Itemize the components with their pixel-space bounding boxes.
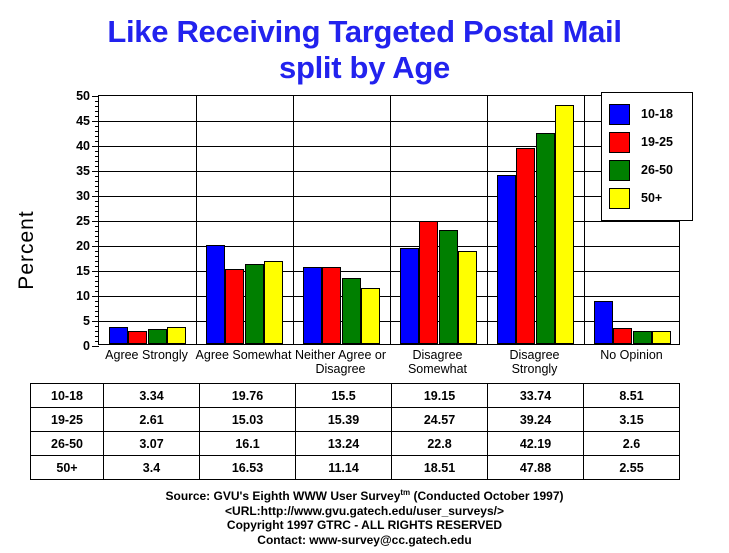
table-cell: 2.61 [104, 408, 200, 432]
category-separator-line [584, 96, 585, 344]
x-axis-label-line: Somewhat [389, 362, 486, 376]
x-axis-label-line: Agree Somewhat [195, 348, 292, 362]
bar-19-25-0[interactable] [128, 331, 147, 344]
bar-26-50-2[interactable] [342, 278, 361, 344]
y-axis-tick [92, 196, 99, 197]
y-axis-tick-label: 10 [76, 289, 90, 303]
bar-19-25-4[interactable] [516, 148, 535, 344]
y-axis-tick-label: 40 [76, 139, 90, 153]
y-axis-minor-tick [95, 331, 99, 332]
bar-10-18-4[interactable] [497, 175, 516, 344]
y-axis-tick-label: 20 [76, 239, 90, 253]
y-axis-tick-label: 0 [83, 339, 90, 353]
table-cell: 19.76 [200, 384, 296, 408]
y-axis-minor-tick [95, 156, 99, 157]
gridline-horizontal [99, 196, 679, 197]
y-axis-minor-tick [95, 176, 99, 177]
table-cell: 13.24 [296, 432, 392, 456]
footer-source-post: (Conducted October 1997) [410, 489, 563, 503]
table-cell: 8.51 [584, 384, 680, 408]
x-axis-label-line: Strongly [486, 362, 583, 376]
gridline-horizontal [99, 171, 679, 172]
table-row: 50+3.416.5311.1418.5147.882.55 [31, 456, 680, 480]
y-axis-tick [92, 321, 99, 322]
y-axis-tick [92, 146, 99, 147]
y-axis-minor-tick [95, 181, 99, 182]
table-cell: 2.55 [584, 456, 680, 480]
table-cell: 3.34 [104, 384, 200, 408]
bar-26-50-1[interactable] [245, 264, 264, 345]
bar-19-25-2[interactable] [322, 267, 341, 344]
y-axis-minor-tick [95, 211, 99, 212]
table-cell: 15.03 [200, 408, 296, 432]
legend-item-19-25[interactable]: 19-25 [609, 128, 686, 156]
category-separator-line [390, 96, 391, 344]
gridline-horizontal [99, 296, 679, 297]
y-axis-tick [92, 171, 99, 172]
y-axis-minor-tick [95, 236, 99, 237]
y-axis-minor-tick [95, 261, 99, 262]
y-axis-minor-tick [95, 161, 99, 162]
y-axis-minor-tick [95, 216, 99, 217]
table-cell: 39.24 [488, 408, 584, 432]
table-cell: 33.74 [488, 384, 584, 408]
footer-source-trademark: tm [400, 488, 410, 497]
table-row: 26-503.0716.113.2422.842.192.6 [31, 432, 680, 456]
table-row-header: 10-18 [31, 384, 104, 408]
plot-area: 05101520253035404550 [98, 95, 680, 345]
y-axis-tick [92, 271, 99, 272]
table-cell: 18.51 [392, 456, 488, 480]
legend-item-10-18[interactable]: 10-18 [609, 100, 686, 128]
table-cell: 3.4 [104, 456, 200, 480]
table-cell: 2.6 [584, 432, 680, 456]
gridline-horizontal [99, 271, 679, 272]
y-axis-minor-tick [95, 306, 99, 307]
table-cell: 15.39 [296, 408, 392, 432]
bar-50plus-4[interactable] [555, 105, 574, 344]
footer-copyright: Copyright 1997 GTRC - ALL RIGHTS RESERVE… [0, 518, 729, 533]
table-cell: 11.14 [296, 456, 392, 480]
data-table-body: 10-183.3419.7615.519.1533.748.5119-252.6… [31, 384, 680, 480]
y-axis-tick [92, 346, 99, 347]
y-axis-tick-label: 50 [76, 89, 90, 103]
bar-26-50-3[interactable] [439, 230, 458, 344]
page-title: Like Receiving Targeted Postal Mail spli… [0, 14, 729, 86]
gridline-horizontal [99, 321, 679, 322]
bar-19-25-3[interactable] [419, 221, 438, 344]
bar-50plus-2[interactable] [361, 288, 380, 344]
y-axis-minor-tick [95, 126, 99, 127]
x-axis-label-line: Disagree [389, 348, 486, 362]
x-axis-label-0: Agree Strongly [98, 348, 195, 362]
table-cell: 24.57 [392, 408, 488, 432]
x-axis-label-1: Agree Somewhat [195, 348, 292, 362]
y-axis-minor-tick [95, 136, 99, 137]
y-axis-minor-tick [95, 336, 99, 337]
y-axis-minor-tick [95, 106, 99, 107]
x-axis-label-5: No Opinion [583, 348, 680, 362]
y-axis-minor-tick [95, 231, 99, 232]
gridline-horizontal [99, 146, 679, 147]
footer-source-pre: Source: GVU's Eighth WWW User Survey [165, 489, 400, 503]
y-axis-minor-tick [95, 341, 99, 342]
y-axis-tick [92, 296, 99, 297]
legend-swatch-icon [609, 188, 630, 209]
table-cell: 15.5 [296, 384, 392, 408]
y-axis-minor-tick [95, 286, 99, 287]
chart-legend: 10-1819-2526-5050+ [601, 92, 693, 221]
title-line-1: Like Receiving Targeted Postal Mail [0, 14, 729, 50]
y-axis-tick [92, 121, 99, 122]
legend-item-label: 26-50 [641, 163, 673, 177]
x-axis-label-line: No Opinion [583, 348, 680, 362]
y-axis-tick [92, 246, 99, 247]
y-axis-tick-label: 5 [83, 314, 90, 328]
legend-item-label: 50+ [641, 191, 662, 205]
y-axis-tick [92, 96, 99, 97]
y-axis-minor-tick [95, 226, 99, 227]
bar-10-18-2[interactable] [303, 267, 322, 345]
y-axis-minor-tick [95, 131, 99, 132]
bar-10-18-3[interactable] [400, 248, 419, 344]
x-axis-label-3: DisagreeSomewhat [389, 348, 486, 376]
y-axis-minor-tick [95, 266, 99, 267]
y-axis-minor-tick [95, 101, 99, 102]
gridline-horizontal [99, 221, 679, 222]
y-axis-minor-tick [95, 326, 99, 327]
bar-26-50-0[interactable] [148, 329, 167, 344]
y-axis-minor-tick [95, 276, 99, 277]
y-axis-minor-tick [95, 191, 99, 192]
table-cell: 16.53 [200, 456, 296, 480]
y-axis-minor-tick [95, 251, 99, 252]
bar-50plus-0[interactable] [167, 327, 186, 344]
category-separator-line [196, 96, 197, 344]
table-cell: 3.07 [104, 432, 200, 456]
bar-26-50-5[interactable] [633, 331, 652, 344]
legend-swatch-icon [609, 160, 630, 181]
y-axis-minor-tick [95, 256, 99, 257]
table-cell: 16.1 [200, 432, 296, 456]
y-axis-minor-tick [95, 206, 99, 207]
y-axis-tick-label: 15 [76, 264, 90, 278]
table-row-header: 26-50 [31, 432, 104, 456]
bar-10-18-0[interactable] [109, 327, 128, 344]
table-cell: 19.15 [392, 384, 488, 408]
y-axis-minor-tick [95, 316, 99, 317]
y-axis-tick-label: 45 [76, 114, 90, 128]
bar-19-25-1[interactable] [225, 269, 244, 344]
data-table: 10-183.3419.7615.519.1533.748.5119-252.6… [30, 383, 680, 480]
title-line-2: split by Age [0, 50, 729, 86]
y-axis-minor-tick [95, 111, 99, 112]
y-axis-minor-tick [95, 201, 99, 202]
table-cell: 3.15 [584, 408, 680, 432]
y-axis-minor-tick [95, 186, 99, 187]
legend-item-label: 19-25 [641, 135, 673, 149]
table-cell: 42.19 [488, 432, 584, 456]
table-row-header: 19-25 [31, 408, 104, 432]
y-axis-title: Percent [15, 190, 39, 310]
table-cell: 47.88 [488, 456, 584, 480]
x-axis-label-line: Disagree [486, 348, 583, 362]
x-axis-label-line: Disagree [292, 362, 389, 376]
y-axis-minor-tick [95, 151, 99, 152]
x-axis-label-line: Neither Agree or [292, 348, 389, 362]
bar-26-50-4[interactable] [536, 133, 555, 344]
table-row-header: 50+ [31, 456, 104, 480]
y-axis-minor-tick [95, 281, 99, 282]
footer-source: Source: GVU's Eighth WWW User Surveytm (… [0, 486, 729, 504]
bar-10-18-1[interactable] [206, 245, 225, 344]
y-axis-minor-tick [95, 311, 99, 312]
bar-50plus-3[interactable] [458, 251, 477, 344]
y-axis-tick-label: 25 [76, 214, 90, 228]
legend-swatch-icon [609, 104, 630, 125]
category-separator-line [487, 96, 488, 344]
x-axis-label-line: Agree Strongly [98, 348, 195, 362]
bar-50plus-5[interactable] [652, 331, 671, 344]
legend-item-label: 10-18 [641, 107, 673, 121]
y-axis-minor-tick [95, 241, 99, 242]
bar-10-18-5[interactable] [594, 301, 613, 344]
footer-contact[interactable]: Contact: www-survey@cc.gatech.edu [0, 533, 729, 548]
bar-19-25-5[interactable] [613, 328, 632, 344]
footer-url[interactable]: <URL:http://www.gvu.gatech.edu/user_surv… [0, 504, 729, 519]
legend-item-26-50[interactable]: 26-50 [609, 156, 686, 184]
x-axis-label-2: Neither Agree orDisagree [292, 348, 389, 376]
y-axis-minor-tick [95, 166, 99, 167]
legend-swatch-icon [609, 132, 630, 153]
chart-plot-wrapper: Percent 05101520253035404550 Agree Stron… [0, 88, 729, 358]
gridline-horizontal [99, 246, 679, 247]
y-axis-minor-tick [95, 141, 99, 142]
y-axis-minor-tick [95, 291, 99, 292]
table-row: 19-252.6115.0315.3924.5739.243.15 [31, 408, 680, 432]
y-axis-tick-label: 30 [76, 189, 90, 203]
table-row: 10-183.3419.7615.519.1533.748.51 [31, 384, 680, 408]
y-axis-minor-tick [95, 301, 99, 302]
y-axis-tick-label: 35 [76, 164, 90, 178]
footer: Source: GVU's Eighth WWW User Surveytm (… [0, 486, 729, 547]
x-axis-label-4: DisagreeStrongly [486, 348, 583, 376]
y-axis-minor-tick [95, 116, 99, 117]
gridline-horizontal [99, 121, 679, 122]
category-separator-line [293, 96, 294, 344]
bar-50plus-1[interactable] [264, 261, 283, 344]
y-axis-tick [92, 221, 99, 222]
legend-item-50plus[interactable]: 50+ [609, 184, 686, 212]
table-cell: 22.8 [392, 432, 488, 456]
